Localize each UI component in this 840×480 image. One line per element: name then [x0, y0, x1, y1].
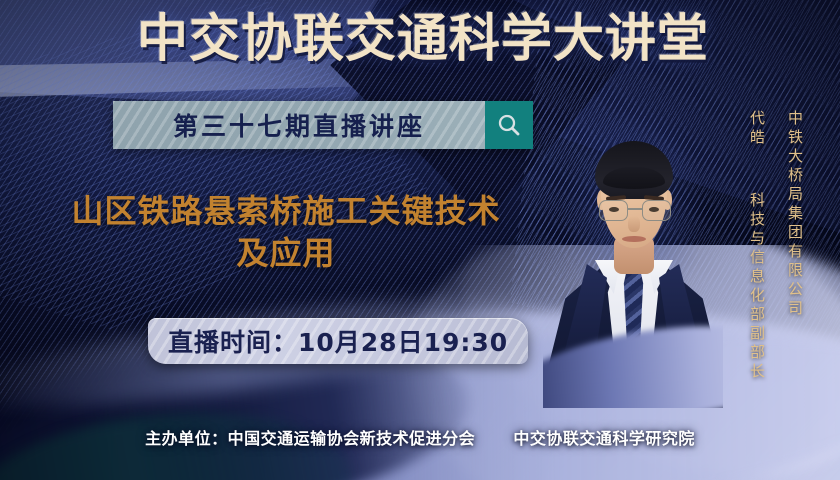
- speaker-portrait: [543, 108, 723, 408]
- lecture-topic-line2: 及应用: [26, 232, 546, 274]
- broadcast-time-label: 直播时间：10月28日19:30: [168, 323, 508, 359]
- broadcast-time-badge: 直播时间：10月28日19:30: [148, 318, 528, 364]
- lecture-topic: 山区铁路悬索桥施工关键技术 及应用: [26, 190, 546, 274]
- glasses-lens-left: [599, 200, 628, 221]
- portrait-nose: [628, 216, 640, 232]
- speaker-organization: 中铁大桥局集团有限公司: [787, 110, 802, 319]
- page-title: 中交协联交通科学大讲堂: [0, 14, 840, 65]
- speaker-name-title: 代皓 科技与信息化部副部长: [749, 110, 764, 382]
- glasses-bridge: [628, 208, 642, 210]
- organizer-secondary: 中交协联交通科学研究院: [513, 429, 695, 448]
- session-label: 第三十七期直播讲座: [173, 107, 425, 143]
- search-button[interactable]: [485, 101, 533, 149]
- glasses-lens-right: [642, 200, 671, 221]
- organizer-footer: 主办单位：中国交通运输协会新技术促进分会 中交协联交通科学研究院: [0, 425, 840, 449]
- session-banner: 第三十七期直播讲座: [113, 101, 533, 149]
- session-banner-body: 第三十七期直播讲座: [113, 101, 485, 149]
- live-event-poster: 中交协联交通科学大讲堂 第三十七期直播讲座 山区铁路悬索桥施工关键技术 及应用 …: [0, 0, 840, 480]
- organizer-primary: 主办单位：中国交通运输协会新技术促进分会: [145, 429, 475, 448]
- search-icon: [496, 112, 522, 138]
- portrait-mouth: [622, 236, 646, 242]
- lecture-topic-line1: 山区铁路悬索桥施工关键技术: [71, 192, 500, 230]
